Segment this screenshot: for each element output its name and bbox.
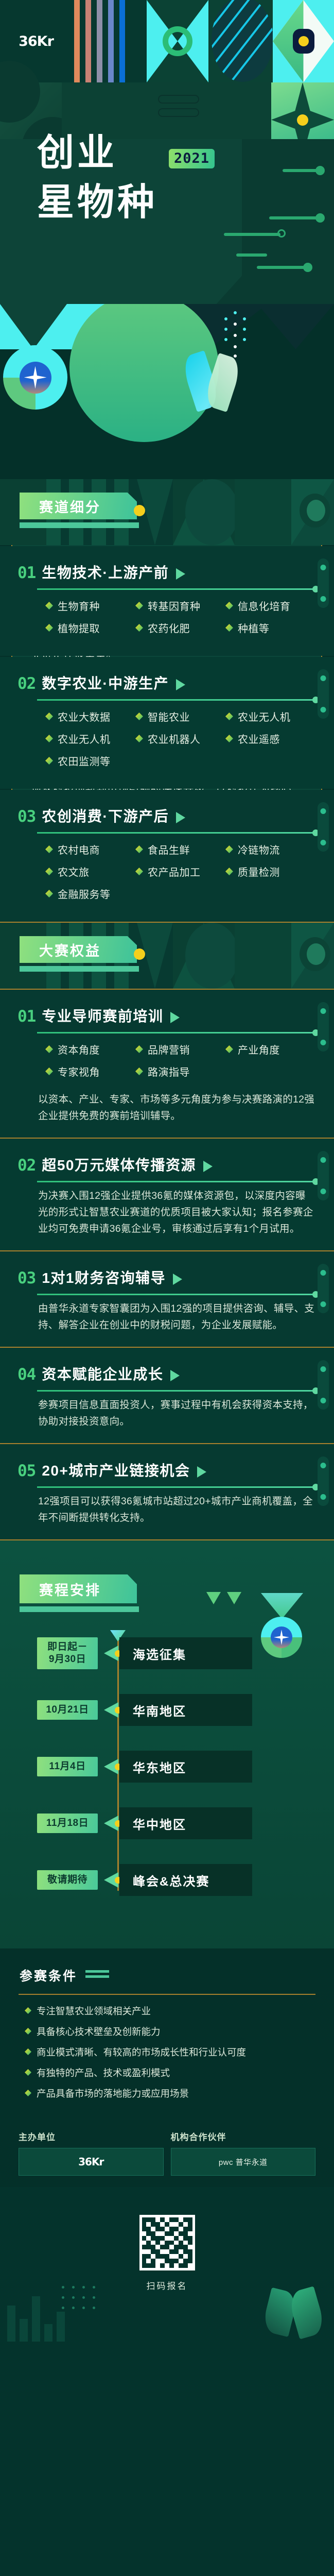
qr-cell (179, 2245, 183, 2249)
qr-cell (188, 2259, 192, 2263)
qr-cell (165, 2241, 169, 2245)
tag-label: 农业无人机 (58, 731, 111, 746)
play-triangle-icon (170, 1370, 180, 1381)
timeline-stage-label: 华南地区 (133, 1701, 186, 1719)
play-triangle-icon (197, 1466, 206, 1478)
qr-cell (165, 2217, 169, 2222)
play-triangle-icon (173, 1274, 182, 1285)
qr-cell (169, 2254, 174, 2259)
track-item[interactable]: 02数字农业·中游生产农业大数据智能农业农业无人机农业无人机农业机器人农业遥感农… (0, 657, 334, 789)
qr-cell (160, 2249, 165, 2254)
requirement-item: 有独特的产品、技术或盈利模式 (25, 2066, 334, 2080)
diamond-bullet-icon (45, 890, 53, 897)
qr-cell (142, 2263, 147, 2268)
tag-label: 金融服务等 (58, 886, 111, 901)
qr-cell (160, 2236, 165, 2241)
tag-label: 信息化培育 (238, 598, 291, 613)
benefit-item[interactable]: 02超50万元媒体传播资源为决赛入围12强企业提供36氪的媒体资源包，以深度内容… (0, 1139, 334, 1250)
qr-cell (142, 2217, 147, 2222)
timeline-stage: 峰会&总决赛 (119, 1864, 252, 1896)
diamond-bullet-icon (225, 624, 233, 632)
partner-column: 机构合作伙伴 pwc 普华永道 (171, 2130, 316, 2176)
diamond-bullet-icon (225, 713, 233, 720)
side-connector-decoration (318, 1360, 329, 1410)
benefits-banner: 大赛权益 (0, 923, 334, 989)
qr-cell (169, 2241, 174, 2245)
tracks-banner-tab: 赛道细分 (20, 493, 137, 519)
side-connector-decoration (318, 1456, 329, 1506)
requirement-item: 商业模式清晰、有较高的市场成长性和行业认可度 (25, 2045, 334, 2060)
diamond-bullet-icon (135, 1045, 143, 1053)
benefit-title: 资本赋能企业成长 (42, 1363, 163, 1384)
play-triangle-icon (176, 568, 185, 580)
yellow-dot-icon (134, 948, 145, 960)
diamond-bullet-icon (225, 868, 233, 875)
tag-item[interactable]: 路演指导 (135, 1064, 225, 1079)
benefit-description: 以资本、产业、专家、市场等多元角度为参与决赛路演的12强企业提供免费的赛前培训辅… (38, 1091, 315, 1124)
timeline-stage-label: 峰会&总决赛 (133, 1871, 209, 1889)
page-title-line-1: 创业 (37, 132, 117, 174)
qr-cell (146, 2249, 151, 2254)
qr-cell (169, 2227, 174, 2231)
diamond-bullet-icon (45, 735, 53, 742)
tag-item[interactable]: 农业无人机 (225, 709, 315, 724)
progress-rule (37, 1294, 315, 1295)
qr-cell (146, 2236, 151, 2241)
big-triangle-icon (261, 1593, 303, 1619)
tag-item[interactable]: 农业遥感 (225, 731, 315, 746)
qr-cell (151, 2227, 155, 2231)
benefit-number: 04 (17, 1365, 36, 1384)
benefit-item[interactable]: 01专业导师赛前培训资本角度品牌营销产业角度专家视角路演指导以资本、产业、专家、… (0, 990, 334, 1138)
dot-column-decoration (221, 304, 252, 355)
tag-label: 农业无人机 (238, 709, 291, 724)
diamond-bullet-icon (25, 2048, 31, 2055)
logo-36kr-text: 36Kr (78, 2156, 103, 2168)
qr-cell (183, 2254, 188, 2259)
qr-cell (169, 2217, 174, 2222)
qr-cell (151, 2254, 155, 2259)
diamond-bullet-icon (135, 845, 143, 853)
qr-cell (151, 2222, 155, 2227)
qr-cell (165, 2259, 169, 2263)
qr-cell (165, 2222, 169, 2227)
tag-label: 农文旅 (58, 864, 90, 879)
benefit-description: 由普华永道专家智囊团为入围12强的项目提供咨询、辅导、支持、解答企业在创业中的财… (38, 1300, 315, 1333)
logo-36kr-text: 36Kr (19, 33, 54, 49)
qr-cell (179, 2263, 183, 2268)
track-title: 农创消费·下游产后 (42, 805, 169, 826)
qr-cell (179, 2222, 183, 2227)
timeline-stage: 华东地区 (119, 1751, 252, 1783)
qr-cell (165, 2254, 169, 2259)
qr-cell (183, 2236, 188, 2241)
tag-item[interactable]: 专家视角 (45, 1064, 135, 1079)
qr-cell (160, 2245, 165, 2249)
qr-cell (188, 2231, 192, 2236)
qr-cell (146, 2231, 151, 2236)
qr-cell (165, 2231, 169, 2236)
requirement-item: 产品具备市场的落地能力或应用场景 (25, 2087, 334, 2101)
tag-label: 生物育种 (58, 598, 100, 613)
qr-cell (151, 2259, 155, 2263)
tag-item[interactable]: 生物育种 (45, 598, 135, 613)
qr-cell (151, 2263, 155, 2268)
qr-cell (169, 2259, 174, 2263)
benefits-banner-label: 大赛权益 (39, 940, 101, 960)
tag-item[interactable]: 信息化培育 (225, 598, 315, 613)
tag-item[interactable]: 植物提取 (45, 620, 135, 635)
tag-item[interactable]: 智能农业 (135, 709, 225, 724)
circuit-decoration (241, 144, 334, 299)
tag-item[interactable]: 农文旅 (45, 864, 135, 879)
diamond-bullet-icon (135, 735, 143, 742)
host-label: 主办单位 (19, 2130, 164, 2143)
triangle-decoration (206, 1592, 241, 1604)
timeline-row: 11月18日华中地区 (0, 1807, 334, 1839)
side-connector-decoration (318, 802, 329, 852)
side-connector-decoration (318, 1264, 329, 1313)
qr-cell (188, 2241, 192, 2245)
qr-cell (174, 2263, 179, 2268)
diamond-bullet-icon (25, 2069, 31, 2076)
requirement-item: 专注智慧农业领域相关产业 (25, 2004, 334, 2019)
tag-label: 转基因育种 (148, 598, 201, 613)
tag-item[interactable]: 品牌营销 (135, 1042, 225, 1057)
timeline-date: 即日起－9月30日 (37, 1637, 98, 1669)
schedule-banner-label: 赛程安排 (39, 1579, 101, 1599)
qr-cell (179, 2227, 183, 2231)
tag-label: 农药化肥 (148, 620, 190, 635)
hero-bottom-graphics (0, 304, 334, 479)
ring-icon (163, 26, 192, 56)
timeline-date: 11月18日 (37, 1814, 98, 1833)
benefit-title: 超50万元媒体传播资源 (42, 1154, 196, 1175)
timeline-row: 11月4日华东地区 (0, 1751, 334, 1783)
stripes-tile (72, 0, 147, 82)
qr-cell (179, 2259, 183, 2263)
diamond-bullet-icon (225, 735, 233, 742)
qr-cell (155, 2259, 160, 2263)
diamond-bullet-icon (135, 713, 143, 720)
progress-rule (37, 1390, 315, 1392)
tag-item[interactable]: 质量检测 (225, 864, 315, 879)
benefit-item[interactable]: 04资本赋能企业成长参赛项目信息直面投资人，赛事过程中有机会获得资本支持，协助对… (0, 1348, 334, 1443)
diamond-bullet-icon (135, 624, 143, 632)
tag-item[interactable]: 农业大数据 (45, 709, 135, 724)
track-tag-list: 农业大数据智能农业农业无人机农业无人机农业机器人农业遥感农田监测等 (45, 709, 315, 775)
qr-cell (146, 2222, 151, 2227)
qr-cell (174, 2249, 179, 2254)
partner-logo-box: pwc 普华永道 (171, 2148, 316, 2176)
qr-cell (174, 2222, 179, 2227)
diamond-bullet-icon (45, 602, 53, 609)
requirement-label: 有独特的产品、技术或盈利模式 (37, 2066, 170, 2080)
track-title: 数字农业·中游生产 (42, 672, 169, 693)
qr-cell (151, 2241, 155, 2245)
qr-cell (155, 2236, 160, 2241)
qr-footer-section: 扫码报名 (0, 2187, 334, 2342)
qr-cell (146, 2227, 151, 2231)
qr-cell (183, 2245, 188, 2249)
play-triangle-icon (176, 812, 185, 823)
benefit-title: 1对1财务咨询辅导 (42, 1267, 166, 1287)
requirement-label: 产品具备市场的落地能力或应用场景 (37, 2087, 189, 2101)
diamond-bullet-icon (225, 602, 233, 609)
benefit-item[interactable]: 0520+城市产业链接机会12强项目可以获得36氪城市站超过20+城市产业商机覆… (0, 1444, 334, 1539)
timeline-row: 即日起－9月30日海选征集 (0, 1637, 334, 1669)
qr-cell (160, 2254, 165, 2259)
timeline-date: 10月21日 (37, 1700, 98, 1720)
tag-label: 智能农业 (148, 709, 190, 724)
qr-cell (142, 2259, 147, 2263)
progress-rule (37, 699, 315, 701)
track-title: 生物技术·上游产前 (42, 562, 169, 582)
qr-cell (169, 2245, 174, 2249)
benefits-list: 01专业导师赛前培训资本角度品牌营销产业角度专家视角路演指导以资本、产业、专家、… (0, 990, 334, 1540)
qr-cell (142, 2231, 147, 2236)
qr-cell (165, 2245, 169, 2249)
benefit-item[interactable]: 031对1财务咨询辅导由普华永道专家智囊团为入围12强的项目提供咨询、辅导、支持… (0, 1251, 334, 1347)
qr-cell (146, 2259, 151, 2263)
tag-item[interactable]: 农药化肥 (135, 620, 225, 635)
qr-cell (183, 2222, 188, 2227)
qr-cell (174, 2217, 179, 2222)
page-title-line-2: 星物种 (37, 181, 157, 224)
qr-cell (160, 2259, 165, 2263)
qr-cell (188, 2249, 192, 2254)
tag-item[interactable]: 农业机器人 (135, 731, 225, 746)
qr-cell (179, 2241, 183, 2245)
tag-label: 农业大数据 (58, 709, 111, 724)
track-item[interactable]: 01生物技术·上游产前生物育种转基因育种信息化培育植物提取农药化肥种植等 (0, 546, 334, 656)
qr-cell (174, 2227, 179, 2231)
requirement-label: 具备核心技术壁垒及创新能力 (37, 2025, 161, 2039)
qr-cell (155, 2245, 160, 2249)
benefit-description: 为决赛入围12强企业提供36氪的媒体资源包，以深度内容曝光的形式让智慧农业赛道的… (38, 1188, 315, 1237)
tag-item[interactable]: 农田监测等 (45, 753, 135, 768)
qr-cell (151, 2245, 155, 2249)
tag-item[interactable]: 农村电商 (45, 842, 135, 857)
tag-item[interactable]: 转基因育种 (135, 598, 225, 613)
benefit-number: 02 (17, 1156, 36, 1175)
side-connector-decoration (318, 1002, 329, 1052)
benefit-tag-list: 资本角度品牌营销产业角度专家视角路演指导 (45, 1042, 315, 1086)
host-logo-box: 36Kr (19, 2148, 164, 2176)
tracks-banner: 赛道细分 (0, 479, 334, 545)
qr-cell (160, 2231, 165, 2236)
progress-rule (37, 1486, 315, 1488)
track-number: 02 (17, 674, 36, 693)
diamond-bullet-icon (45, 1045, 53, 1053)
diamond-bullet-icon (135, 602, 143, 609)
qr-cell (174, 2231, 179, 2236)
eye-icon (293, 29, 314, 54)
qr-cell (142, 2245, 147, 2249)
tag-item[interactable]: 食品生鲜 (135, 842, 225, 857)
tracks-list: 01生物技术·上游产前生物育种转基因育种信息化培育植物提取农药化肥种植等02数字… (0, 546, 334, 923)
qr-cell (155, 2217, 160, 2222)
requirement-label: 商业模式清晰、有较高的市场成长性和行业认可度 (37, 2045, 246, 2060)
benefit-description: 12强项目可以获得36氪城市站超过20+城市产业商机覆盖，全年不间断提供转化支持… (38, 1493, 315, 1526)
timeline-stage: 华中地区 (119, 1807, 252, 1839)
timeline-date: 敬请期待 (37, 1870, 98, 1890)
qr-cell (169, 2236, 174, 2241)
side-connector-decoration (318, 558, 329, 608)
tag-label: 产业角度 (238, 1042, 280, 1057)
qr-cell (179, 2217, 183, 2222)
qr-cell (183, 2241, 188, 2245)
qr-cell (151, 2236, 155, 2241)
qr-cell (169, 2231, 174, 2236)
play-triangle-icon (203, 1161, 213, 1172)
tag-label: 农产品加工 (148, 864, 201, 879)
bowtie-ring-tile (147, 0, 208, 82)
timeline-date: 11月4日 (37, 1757, 98, 1776)
qr-cell (160, 2217, 165, 2222)
qr-cell (188, 2263, 192, 2268)
progress-rule (37, 832, 315, 834)
qr-cell (165, 2227, 169, 2231)
qr-cell (146, 2241, 151, 2245)
side-connector-decoration (318, 669, 329, 719)
diamond-bullet-icon (45, 624, 53, 632)
qr-cell (174, 2245, 179, 2249)
track-number: 03 (17, 807, 36, 826)
diamond-bullet-icon (25, 2090, 31, 2096)
benefit-number: 01 (17, 1007, 36, 1026)
requirements-title: 参赛条件 (20, 1966, 77, 1985)
timeline-stage-label: 华中地区 (133, 1815, 186, 1833)
play-triangle-icon (170, 1012, 180, 1023)
qr-cell (188, 2236, 192, 2241)
tag-item[interactable]: 农业无人机 (45, 731, 135, 746)
progress-rule (37, 588, 315, 590)
qr-cell (160, 2222, 165, 2227)
tag-label: 农业遥感 (238, 731, 280, 746)
tag-item[interactable]: 产业角度 (225, 1042, 315, 1057)
qr-cell (169, 2222, 174, 2227)
qr-cell (146, 2263, 151, 2268)
tag-label: 农村电商 (58, 842, 100, 857)
qr-cell (142, 2222, 147, 2227)
timeline-row: 敬请期待峰会&总决赛 (0, 1864, 334, 1896)
benefit-title: 20+城市产业链接机会 (42, 1460, 190, 1480)
qr-cell (142, 2236, 147, 2241)
tag-label: 质量检测 (238, 864, 280, 879)
qr-cell (188, 2227, 192, 2231)
diamond-bullet-icon (135, 1067, 143, 1075)
tag-label: 专家视角 (58, 1064, 100, 1079)
progress-rule (37, 1181, 315, 1182)
diamond-bullet-icon (225, 845, 233, 853)
qr-cell (174, 2259, 179, 2263)
qr-cell (165, 2249, 169, 2254)
diamond-bullet-icon (45, 868, 53, 875)
progress-rule (37, 1032, 315, 1033)
qr-cell (142, 2227, 147, 2231)
qr-cell (142, 2241, 147, 2245)
track-number: 01 (17, 564, 36, 582)
qr-cell (155, 2254, 160, 2259)
side-connector-decoration (318, 1151, 329, 1200)
qr-cell (160, 2227, 165, 2231)
qr-cell (155, 2241, 160, 2245)
bars-icon (85, 1970, 109, 1980)
tag-label: 资本角度 (58, 1042, 100, 1057)
tag-item[interactable]: 种植等 (225, 620, 315, 635)
tag-label: 植物提取 (58, 620, 100, 635)
qr-cell (188, 2254, 192, 2259)
compass-icon (3, 345, 67, 410)
requirements-list: 专注智慧农业领域相关产业具备核心技术壁垒及创新能力商业模式清晰、有较高的市场成长… (25, 2004, 334, 2101)
tag-item[interactable]: 金融服务等 (45, 886, 135, 901)
tag-label: 农业机器人 (148, 731, 201, 746)
benefits-banner-tab: 大赛权益 (20, 936, 137, 963)
sponsors-section: 主办单位 36Kr 机构合作伙伴 pwc 普华永道 (0, 2122, 334, 2187)
qr-cell (174, 2241, 179, 2245)
benefit-title: 专业导师赛前培训 (42, 1005, 163, 1026)
qr-cell (146, 2245, 151, 2249)
qr-cell (142, 2249, 147, 2254)
tag-label: 农田监测等 (58, 753, 111, 768)
timeline-stage-label: 华东地区 (133, 1758, 186, 1776)
timeline-row: 10月21日华南地区 (0, 1694, 334, 1726)
diamond-bullet-icon (135, 868, 143, 875)
year-badge: 2021 (169, 149, 215, 168)
qr-code[interactable] (139, 2215, 195, 2270)
qr-cell (165, 2263, 169, 2268)
host-column: 主办单位 36Kr (19, 2130, 164, 2176)
qr-cell (151, 2217, 155, 2222)
track-item[interactable]: 03农创消费·下游产后农村电商食品生鲜冷链物流农文旅农产品加工质量检测金融服务等 (0, 790, 334, 922)
partner-logo-text: pwc 普华永道 (219, 2157, 268, 2167)
qr-cell (188, 2245, 192, 2249)
leaf-icon (287, 2286, 326, 2339)
qr-cell (151, 2231, 155, 2236)
qr-cell (183, 2217, 188, 2222)
qr-cell (160, 2241, 165, 2245)
requirement-label: 专注智慧农业领域相关产业 (37, 2004, 151, 2019)
qr-caption: 扫码报名 (0, 2279, 334, 2292)
qr-cell (183, 2263, 188, 2268)
schedule-timeline: 即日起－9月30日海选征集10月21日华南地区11月4日华东地区11月18日华中… (0, 1637, 334, 1896)
qr-cell (174, 2254, 179, 2259)
tag-label: 食品生鲜 (148, 842, 190, 857)
diamond-bullet-icon (25, 2028, 31, 2035)
qr-cell (188, 2217, 192, 2222)
qr-cell (188, 2222, 192, 2227)
qr-cell (155, 2249, 160, 2254)
qr-cell (146, 2254, 151, 2259)
yellow-dot-icon (134, 505, 145, 516)
dot-grid-decoration (62, 2286, 124, 2332)
diamond-bullet-icon (45, 845, 53, 853)
track-tag-list: 农村电商食品生鲜冷链物流农文旅农产品加工质量检测金融服务等 (45, 842, 315, 908)
benefit-number: 05 (17, 1462, 36, 1480)
diamond-bullet-icon (25, 2007, 31, 2014)
tag-item[interactable]: 农产品加工 (135, 864, 225, 879)
qr-cell (174, 2236, 179, 2241)
qr-cell (155, 2227, 160, 2231)
tag-label: 路演指导 (148, 1064, 190, 1079)
tracks-banner-label: 赛道细分 (39, 496, 101, 516)
qr-cell (183, 2259, 188, 2263)
qr-cell (146, 2217, 151, 2222)
tag-item[interactable]: 资本角度 (45, 1042, 135, 1057)
tag-item[interactable]: 冷链物流 (225, 842, 315, 857)
hero-mosaic-strip: 36Kr (0, 0, 334, 82)
